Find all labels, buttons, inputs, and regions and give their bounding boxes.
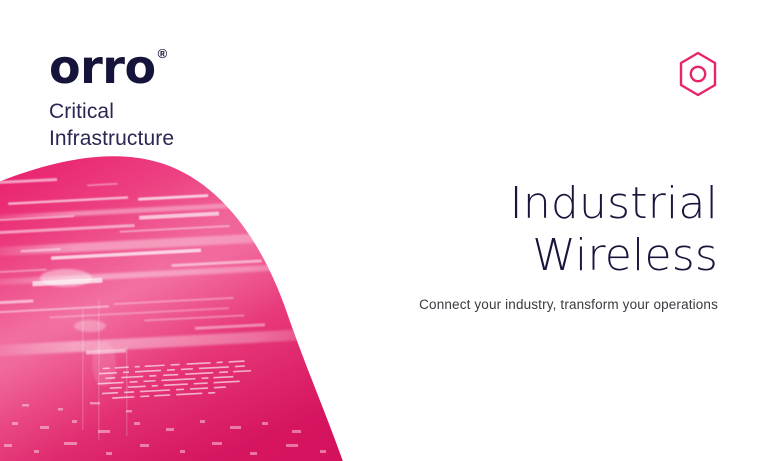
page-title: Industrial Wireless [510, 182, 718, 278]
brand-logo-block: orro ® Critical Infrastructure [49, 44, 174, 153]
orro-hexagon-mark-icon [676, 50, 720, 98]
headline-line-1: Industrial [510, 182, 718, 226]
pink-data-blob-artwork [0, 150, 354, 461]
page-subtitle: Connect your industry, transform your op… [419, 297, 718, 312]
tagline-line-2: Infrastructure [49, 126, 174, 153]
brand-tagline: Critical Infrastructure [49, 99, 174, 153]
headline-line-2: Wireless [510, 234, 718, 278]
orro-wordmark-row: orro ® [49, 44, 174, 90]
tagline-line-1: Critical [49, 99, 174, 126]
presentation-slide: orro ® Critical Infrastructure Industria… [0, 0, 768, 461]
registered-trademark-icon: ® [158, 47, 168, 60]
orro-wordmark: orro [49, 44, 156, 90]
